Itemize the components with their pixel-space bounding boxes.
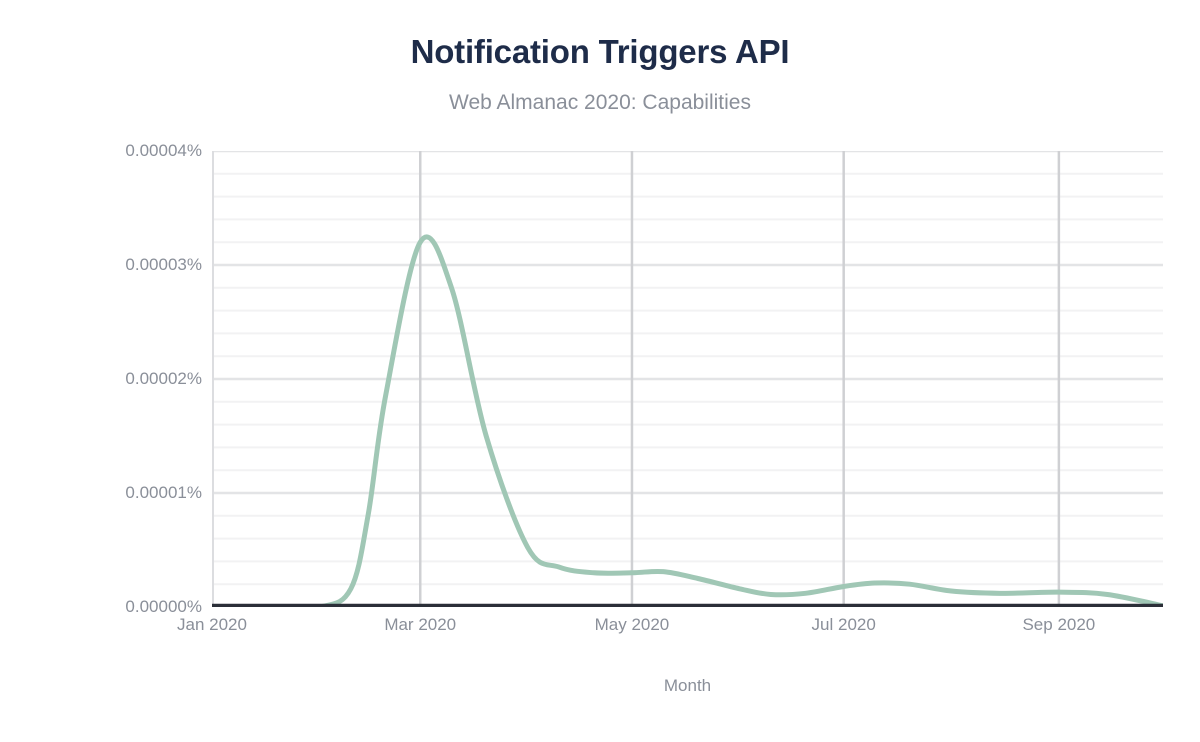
- y-tick-label: 0.00002%: [36, 370, 202, 387]
- plot-svg: [212, 151, 1163, 607]
- chart-subtitle: Web Almanac 2020: Capabilities: [0, 88, 1200, 118]
- y-tick-label: 0.00000%: [36, 598, 202, 615]
- plot-area: [212, 151, 1163, 607]
- y-tick-label: 0.00004%: [36, 142, 202, 159]
- x-tick-label: Jan 2020: [112, 616, 312, 633]
- x-tick-label: Jul 2020: [744, 616, 944, 633]
- major-gridlines: [212, 151, 1163, 493]
- y-tick-label: 0.00003%: [36, 256, 202, 273]
- data-series-line: [212, 237, 1163, 607]
- x-tick-label: May 2020: [532, 616, 732, 633]
- x-axis-title: Month: [212, 676, 1163, 696]
- y-tick-label: 0.00001%: [36, 484, 202, 501]
- chart-container: Notification Triggers API Web Almanac 20…: [0, 0, 1200, 742]
- x-tick-label: Sep 2020: [959, 616, 1159, 633]
- chart-title: Notification Triggers API: [0, 31, 1200, 73]
- x-tick-label: Mar 2020: [320, 616, 520, 633]
